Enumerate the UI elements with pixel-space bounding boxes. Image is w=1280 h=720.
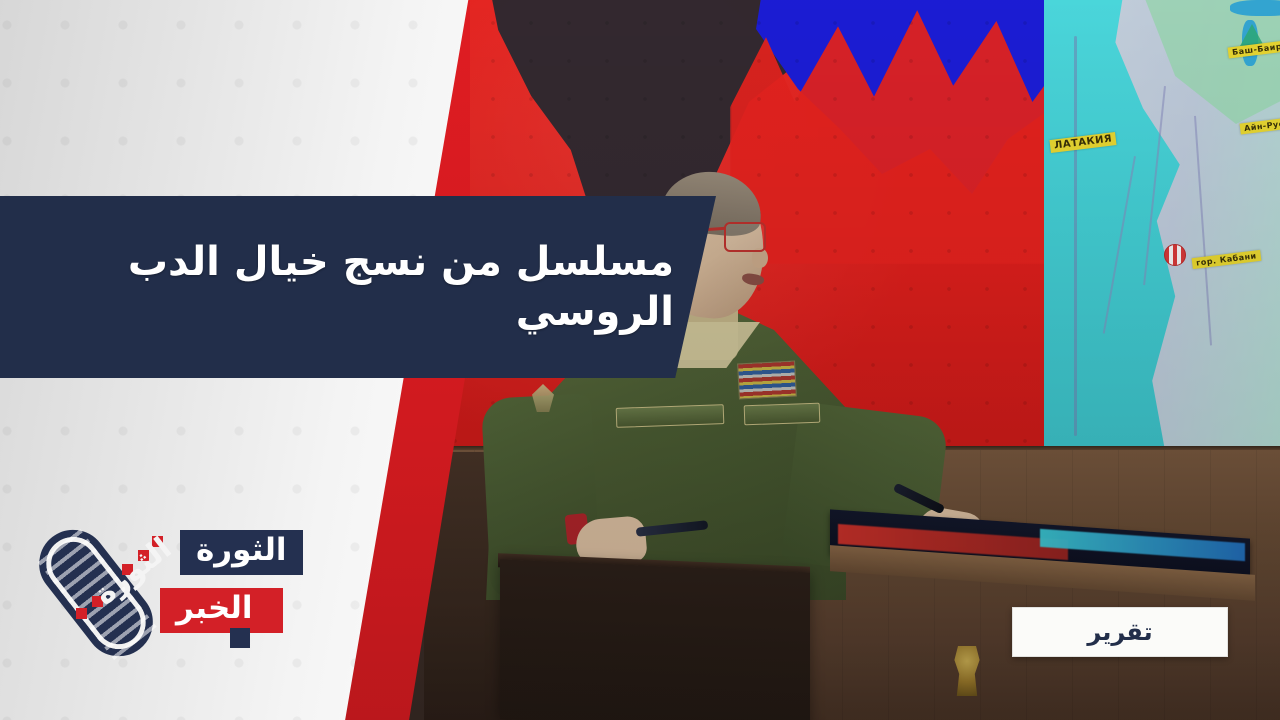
eyeglasses-lens: [724, 222, 766, 252]
red-overlay-shape: [730, 0, 1050, 264]
logo-word-revolution: الثورة: [180, 530, 303, 575]
logo-word-news: الخبر: [160, 588, 283, 633]
map-label-latakia: ЛАТАКИЯ: [1049, 132, 1116, 153]
map-coastline: [1074, 36, 1077, 436]
podium: [500, 559, 810, 720]
segment-badge: تقرير: [1012, 607, 1228, 657]
channel-logo[interactable]: الثورة الثورة الخبر: [62, 516, 324, 668]
logo-square-accent: [230, 628, 250, 648]
uniform-name-tape: [616, 404, 725, 428]
map-water-band: [1230, 0, 1280, 16]
logo-accent-dot: [138, 550, 149, 561]
map-display-screen: ЛАТАКИЯ Айн-Русса Баш-Баир гор. Кабани: [1044, 0, 1280, 448]
logo-accent-dot: [122, 564, 133, 575]
segment-badge-label: تقرير: [1087, 618, 1152, 646]
map-river: [1103, 156, 1136, 334]
blue-zone-shape: [750, 0, 1050, 204]
logo-accent-dot: [76, 608, 87, 619]
broadcast-frame: ЛАТАКИЯ Айн-Русса Баш-Баир гор. Кабани: [0, 0, 1280, 720]
uniform-branch-tape: [744, 403, 821, 426]
headline-text: مسلسل من نسج خيال الدب الروسي: [0, 237, 716, 337]
medal-ribbons: [737, 361, 797, 400]
logo-accent-dot: [92, 596, 103, 607]
logo-accent-dot: [152, 536, 163, 547]
map-target-marker: [1164, 244, 1186, 266]
headline-banner: مسلسل من نسج خيال الدب الروسي: [0, 196, 716, 378]
